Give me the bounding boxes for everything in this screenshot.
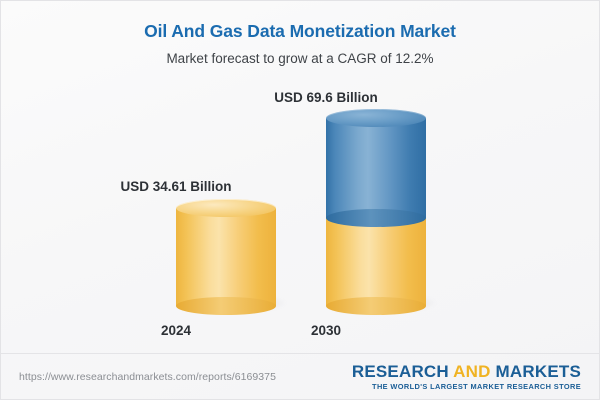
cylinder-top-ellipse	[326, 109, 426, 127]
brand-name-research: RESEARCH	[352, 362, 453, 381]
report-url-link[interactable]: https://www.researchandmarkets.com/repor…	[19, 371, 276, 383]
value-label-2024: USD 34.61 Billion	[120, 179, 231, 194]
category-label-2030: 2030	[311, 323, 341, 338]
brand-name: RESEARCH AND MARKETS	[352, 363, 581, 380]
infographic-card: Oil And Gas Data Monetization Market Mar…	[0, 0, 600, 400]
cylinder-body	[176, 208, 276, 306]
value-label-2030: USD 69.6 Billion	[274, 90, 378, 105]
cylinder-body	[326, 118, 426, 218]
cylinder-2030	[326, 118, 426, 306]
cylinder-base-ellipse	[326, 297, 426, 315]
cylinder-base-ellipse	[176, 297, 276, 315]
brand-tagline: THE WORLD'S LARGEST MARKET RESEARCH STOR…	[352, 383, 581, 390]
footer: https://www.researchandmarkets.com/repor…	[1, 354, 599, 399]
category-label-2024: 2024	[161, 323, 191, 338]
brand-name-and: AND	[453, 362, 490, 381]
brand-name-markets: MARKETS	[491, 362, 581, 381]
bar-segment-2024-base	[176, 208, 276, 306]
brand-logo: RESEARCH AND MARKETS THE WORLD'S LARGEST…	[352, 363, 581, 390]
chart-plot-area: USD 34.61 Billion 2024 USD 69.6 Billion	[1, 1, 600, 353]
bar-segment-2030-base	[326, 218, 426, 306]
cylinder-top-ellipse	[176, 199, 276, 217]
cylinder-body	[326, 218, 426, 306]
cylinder-base-ellipse	[326, 209, 426, 227]
cylinder-2024	[176, 208, 276, 306]
bar-segment-2030-growth	[326, 118, 426, 218]
